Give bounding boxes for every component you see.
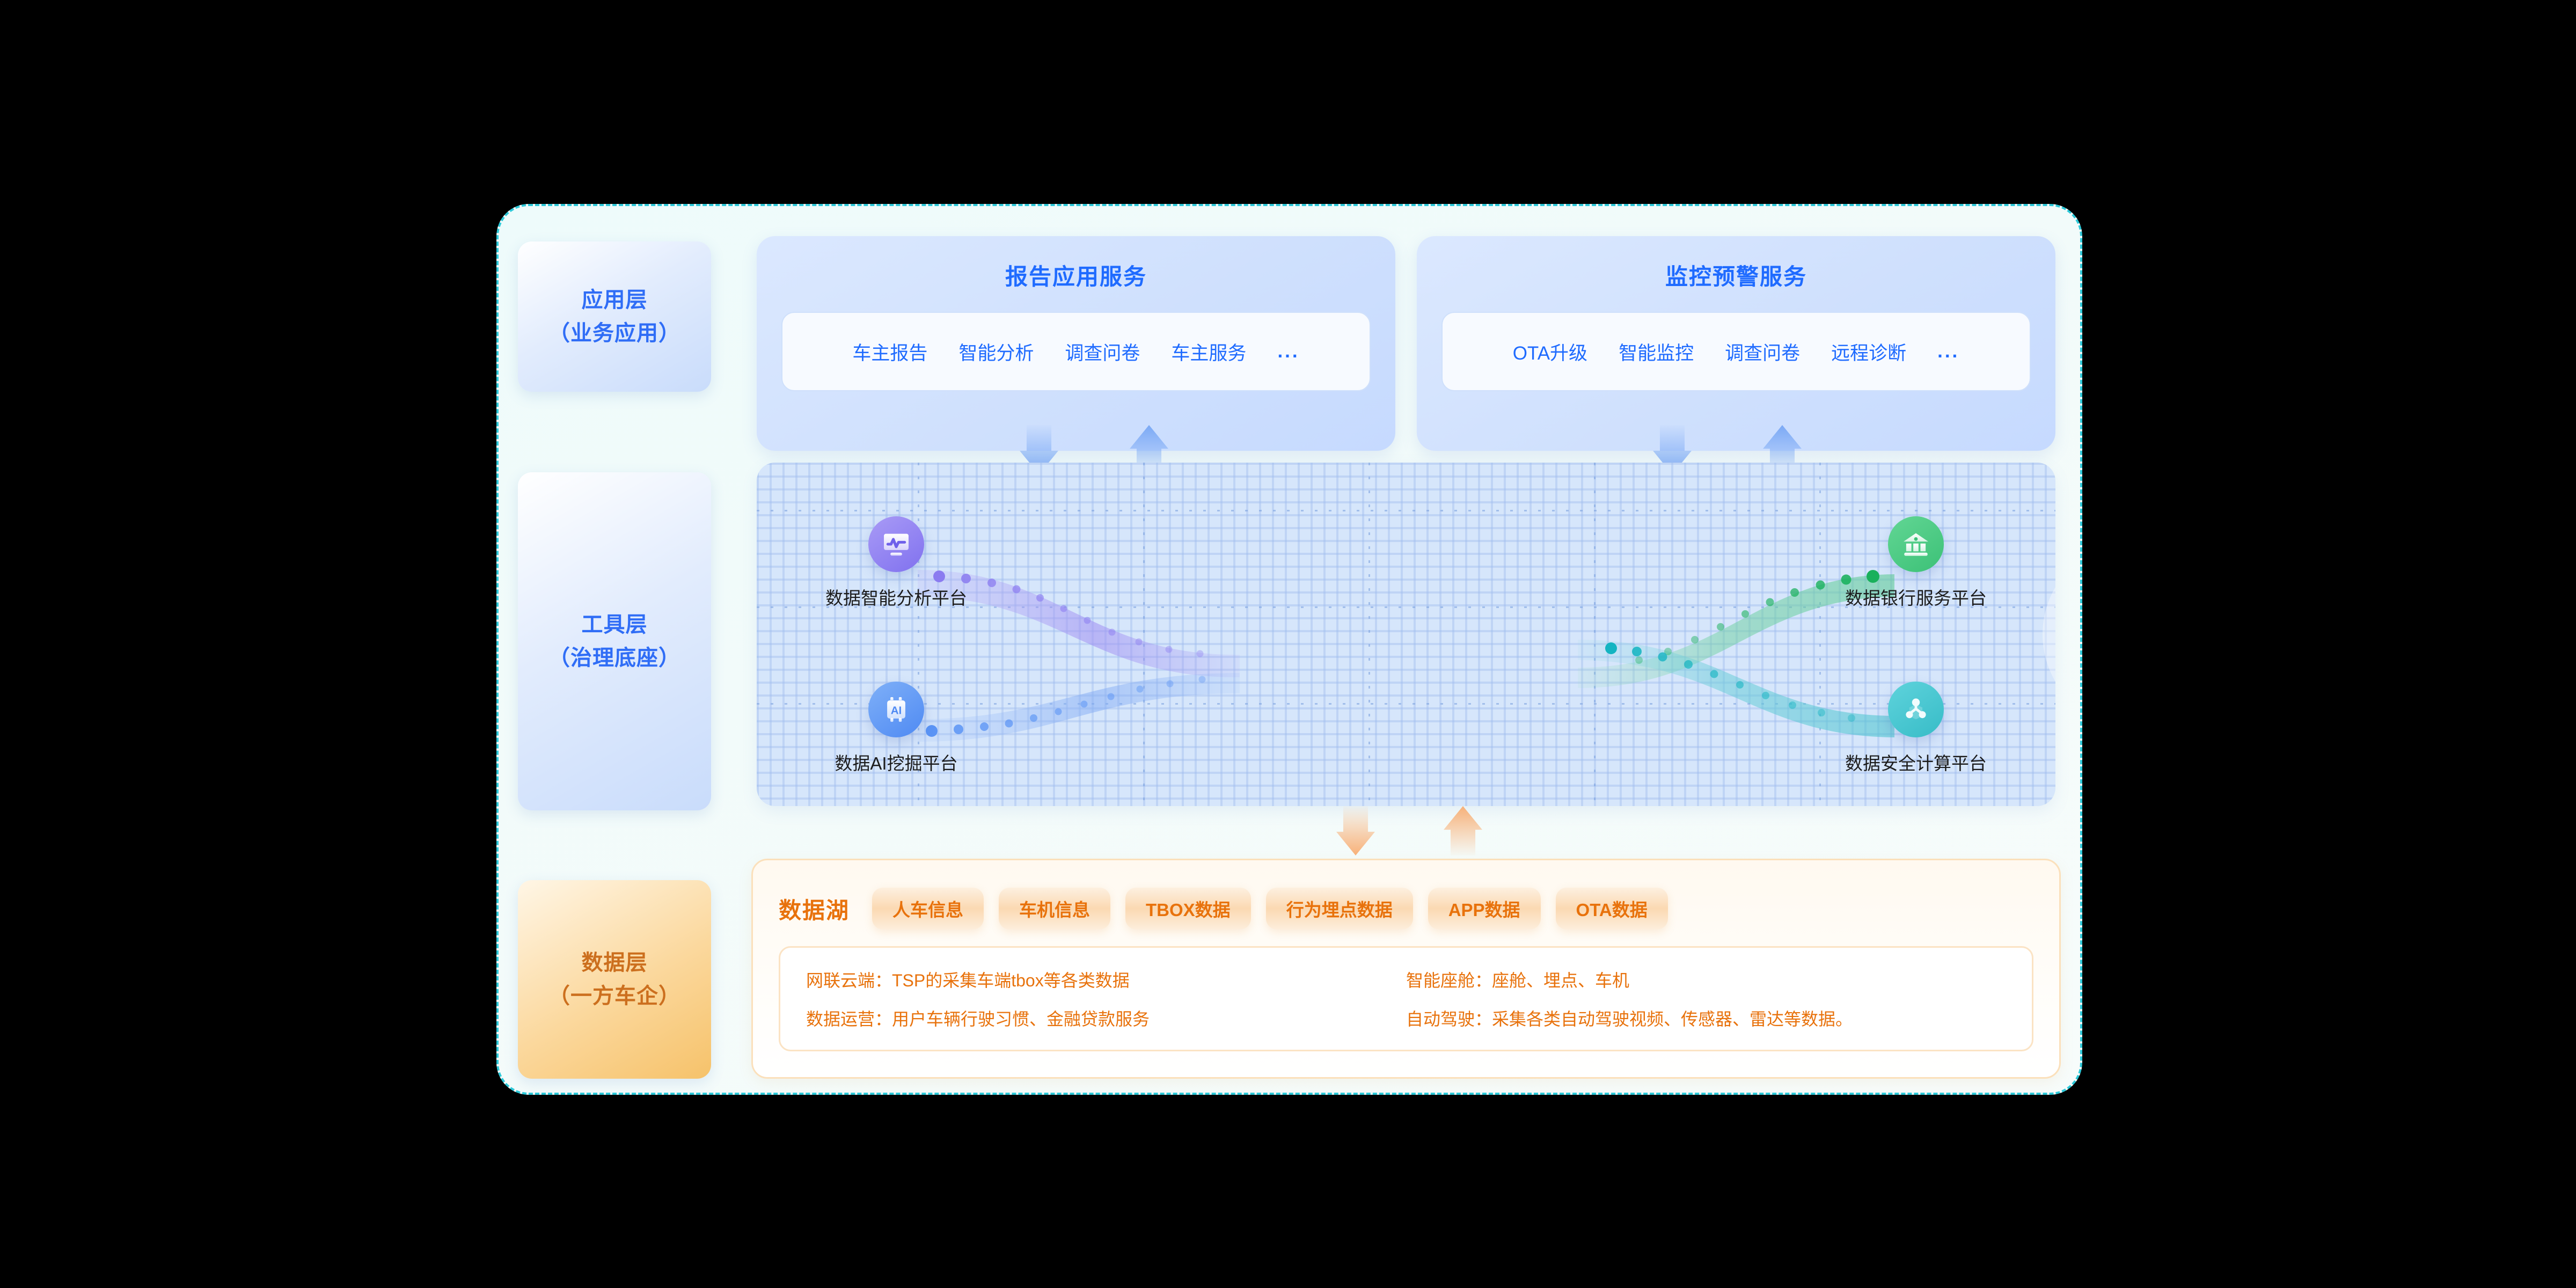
hub-outer-ring	[2043, 541, 2055, 728]
rail-title-tool: 工具层	[548, 608, 680, 641]
service-card-monitor[interactable]: 监控预警服务 OTA升级 智能监控 调查问卷 远程诊断 ...	[1417, 236, 2055, 451]
description-column-right: 智能座舱：座舱、埋点、车机 自动驾驶：采集各类自动驾驶视频、传感器、雷达等数据。	[1406, 966, 2006, 1031]
description-left-0: 网联云端：TSP的采集车端tbox等各类数据	[806, 967, 1406, 992]
service-item-report-1[interactable]: 智能分析	[958, 338, 1034, 365]
service-item-monitor-more[interactable]: ...	[1937, 341, 1959, 362]
description-column-left: 网联云端：TSP的采集车端tbox等各类数据 数据运营：用户车辆行驶习惯、金融贷…	[806, 966, 1406, 1031]
service-item-report-0[interactable]: 车主报告	[852, 338, 927, 365]
data-lake-title: 数据湖	[779, 892, 850, 925]
service-item-report-2[interactable]: 调查问卷	[1065, 338, 1140, 365]
service-card-report[interactable]: 报告应用服务 车主报告 智能分析 调查问卷 车主服务 ...	[757, 236, 1395, 451]
secure-node-icon	[1888, 682, 1944, 737]
bank-building-icon	[1888, 516, 1944, 572]
service-item-monitor-0[interactable]: OTA升级	[1513, 338, 1587, 365]
service-item-monitor-3[interactable]: 远程诊断	[1831, 338, 1906, 365]
service-card-report-items: 车主报告 智能分析 调查问卷 车主服务 ...	[781, 312, 1371, 391]
application-layer-row: 报告应用服务 车主报告 智能分析 调查问卷 车主服务 ... 监控预警服务 OT…	[757, 236, 2055, 451]
node-ai-label: 数据AI挖掘平台	[816, 749, 977, 775]
data-pill-2[interactable]: TBOX数据	[1125, 888, 1251, 930]
rail-item-data-layer[interactable]: 数据层 （一方车企）	[518, 880, 711, 1079]
rail-title-application: 应用层	[548, 283, 680, 317]
central-hub[interactable]: 数据治理 平台	[2043, 541, 2055, 728]
data-pill-5[interactable]: OTA数据	[1556, 888, 1668, 930]
diagram-canvas: 应用层 （业务应用） 工具层 （治理底座） 数据层 （一方车企） 报告应用服务 …	[0, 0, 2576, 1288]
description-right-0: 智能座舱：座舱、埋点、车机	[1406, 967, 2006, 992]
tool-layer-panel: 数据治理 平台 数据智能分析平台	[757, 463, 2055, 806]
node-analysis-platform[interactable]: 数据智能分析平台	[816, 516, 977, 610]
service-item-report-more[interactable]: ...	[1277, 341, 1299, 362]
service-item-monitor-1[interactable]: 智能监控	[1619, 338, 1694, 365]
data-lake-row: 数据湖 人车信息 车机信息 TBOX数据 行为埋点数据 APP数据 OTA数据	[779, 881, 2033, 936]
data-pill-4[interactable]: APP数据	[1428, 888, 1541, 930]
rail-item-tool-layer[interactable]: 工具层 （治理底座）	[518, 472, 711, 810]
node-security-label: 数据安全计算平台	[1835, 749, 1996, 775]
description-right-1: 自动驾驶：采集各类自动驾驶视频、传感器、雷达等数据。	[1406, 1006, 2006, 1030]
data-description-box: 网联云端：TSP的采集车端tbox等各类数据 数据运营：用户车辆行驶习惯、金融贷…	[779, 946, 2033, 1051]
data-pill-3[interactable]: 行为埋点数据	[1266, 888, 1413, 930]
node-ai-platform[interactable]: AI 数据AI挖掘平台	[816, 682, 977, 775]
data-layer-panel: 数据湖 人车信息 车机信息 TBOX数据 行为埋点数据 APP数据 OTA数据 …	[751, 859, 2061, 1079]
rail-item-application-layer[interactable]: 应用层 （业务应用）	[518, 241, 711, 392]
description-left-1: 数据运营：用户车辆行驶习惯、金融贷款服务	[806, 1006, 1406, 1030]
service-item-monitor-2[interactable]: 调查问卷	[1725, 338, 1800, 365]
rail-sub-application: （业务应用）	[548, 317, 680, 350]
rail-sub-tool: （治理底座）	[548, 641, 680, 675]
node-bank-label: 数据银行服务平台	[1835, 584, 1996, 610]
monitor-chart-icon	[868, 516, 924, 572]
data-pill-1[interactable]: 车机信息	[999, 888, 1110, 930]
svg-text:AI: AI	[891, 704, 902, 716]
node-analysis-label: 数据智能分析平台	[816, 584, 977, 610]
rail-title-data: 数据层	[548, 946, 680, 979]
node-bank-platform[interactable]: 数据银行服务平台	[1835, 516, 1996, 610]
rail-sub-data: （一方车企）	[548, 979, 680, 1013]
service-card-monitor-items: OTA升级 智能监控 调查问卷 远程诊断 ...	[1441, 312, 2031, 391]
data-pill-0[interactable]: 人车信息	[872, 888, 984, 930]
node-security-platform[interactable]: 数据安全计算平台	[1835, 682, 1996, 775]
service-item-report-3[interactable]: 车主服务	[1171, 338, 1246, 365]
service-card-report-title: 报告应用服务	[1005, 259, 1147, 291]
service-card-monitor-title: 监控预警服务	[1665, 259, 1807, 291]
ai-chip-icon: AI	[868, 682, 924, 737]
